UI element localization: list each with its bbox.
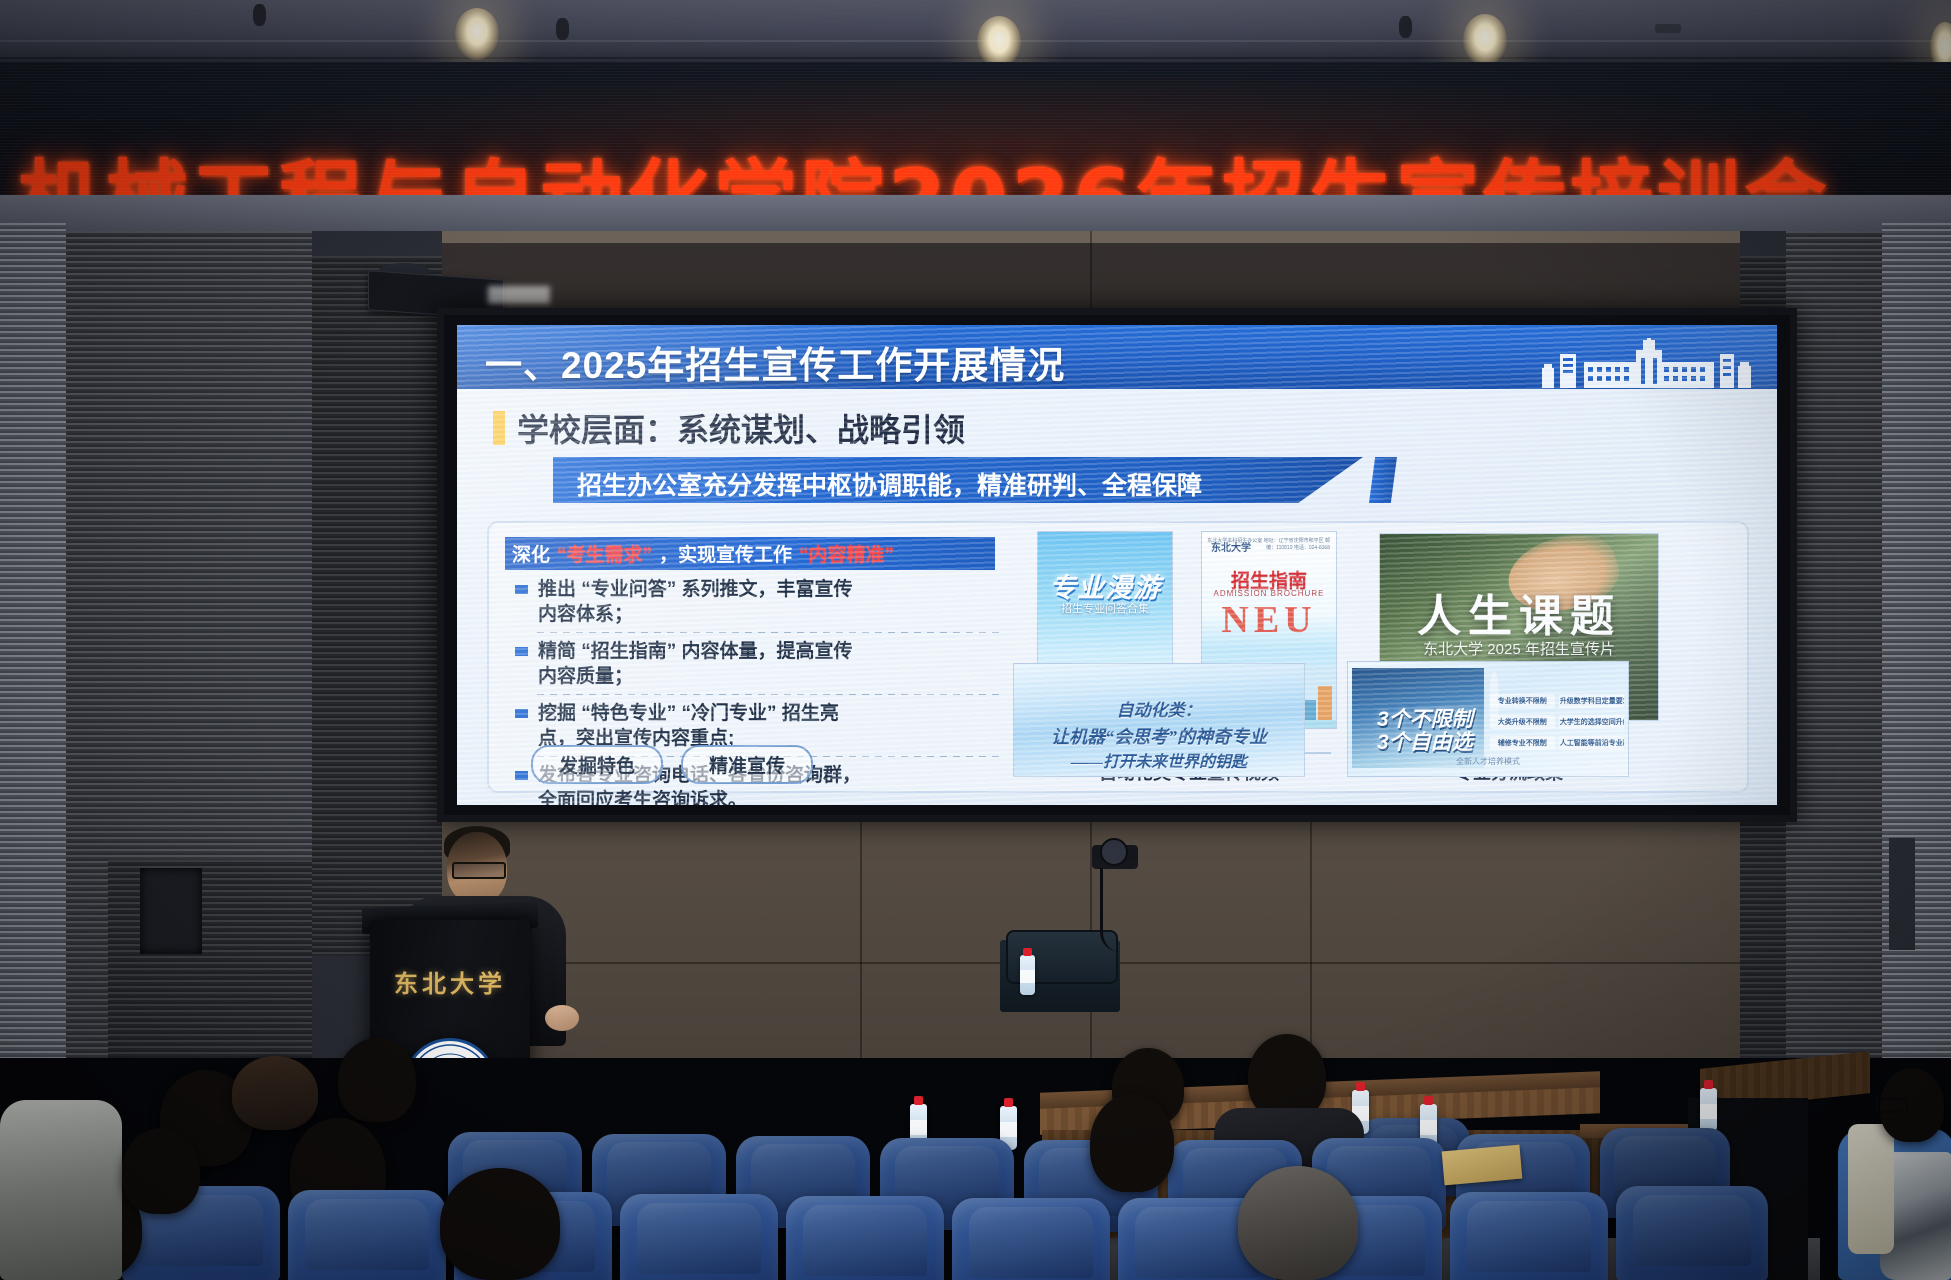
paper-document [1442,1145,1523,1186]
policy-key: 辅修专业不限制 [1490,736,1555,750]
ceiling-vent-icon [1655,24,1681,33]
wall-seam [1310,806,1312,1063]
banner-title-text: 机械工程与自动化学院2026年招生宣传培训会 [18,132,1948,195]
thumb-subtitle: ADMISSION BROCHURE [1202,589,1336,598]
audience-head [1238,1166,1358,1280]
slide-ribbon: 招生办公室充分发挥中枢协调职能，精准研判、全程保障 [553,457,1363,503]
policy-footnote: 全新人才培养模式 [1348,756,1628,767]
policy-headline: 3个不限制 3个自由选 [1352,708,1498,754]
wall-panel-left-b [312,256,442,956]
pill-tag: 精准宣传 [681,745,813,784]
handwritten-text: 自动化类： 让机器“会思考”的神奇专业 ——打开未来世界的钥匙 [1014,698,1304,776]
bullet-line-b: 全面回应考生咨询诉求。 [538,788,1005,805]
seat [620,1194,778,1280]
led-banner: 机械工程与自动化学院2026年招生宣传培训会 [0,62,1951,195]
projector-light-spill [488,286,550,304]
bullet-panel: 深化 “考生需求” ，实现宣传工作 “内容精准” 推出 “专业问答” 系列推文，… [505,537,1005,777]
policy-line-1: 3个不限制 [1352,708,1498,731]
auditorium-photo: 机械工程与自动化学院2026年招生宣传培训会 一、2025年招生宣传工作开展情况 [0,0,1951,1280]
seat [1616,1186,1768,1280]
bp-quote-1: “考生需求” [550,540,652,567]
wall-panel-right-a [1786,231,1882,1091]
projection-screen: 一、2025年招生宣传工作开展情况 [437,308,1797,822]
mic-cable [1100,868,1125,952]
banner-glow [0,62,1951,195]
presentation-slide: 一、2025年招生宣传工作开展情况 [457,325,1777,805]
policy-row: 大类升级不限制 大学生的选择空间升级 [1490,715,1624,729]
bullet-line-b: 内容质量； [538,664,1005,689]
bullet-item: 推出 “专业问答” 系列推文，丰富宣传 内容体系； [511,577,1005,627]
bullet-line-a: 推出 “专业问答” 系列推文，丰富宣传 [538,577,1005,602]
ceiling [0,0,1951,62]
bullet-item: 精简 “招生指南” 内容体量，提高宣传 内容质量； [511,639,1005,689]
audience-head [232,1056,318,1130]
pill-row: 发掘特色 精准宣传 [531,745,813,784]
audience-coat [0,1100,122,1280]
bullet-line-a: 挖掘 “特色专业” “冷门专业” 招生亮 [538,701,1005,726]
policy-line-2: 3个自由选 [1352,731,1498,754]
pill-tag: 发掘特色 [531,745,663,784]
ceiling-downlight [1463,14,1507,66]
seat [1450,1192,1608,1280]
standing-person-glasses-icon [1876,1098,1908,1113]
audience-head [122,1128,200,1214]
policy-row: 辅修专业不限制 人工智能等前沿专业群 [1490,736,1624,750]
hw-line-3: ——打开未来世界的钥匙 [1014,750,1304,776]
bullet-item: 挖掘 “特色专业” “冷门专业” 招生亮 点，突出宣传内容重点; [511,701,1005,751]
thumb-title: 人生课题 [1380,580,1658,644]
policy-value: 大学生的选择空间升级 [1559,715,1624,729]
policy-row: 专业转换不限制 升级数学科目定量要求 [1490,694,1624,708]
wall-recess-right [1889,838,1915,950]
hw-line-2: 让机器“会思考”的神奇专业 [1014,724,1304,750]
podium-university-name: 东北大学 [370,964,530,999]
policy-rows: 专业转换不限制 升级数学科目定量要求 大类升级不限制 大学生的选择空间升级 辅修… [1490,694,1624,757]
audience-head [338,1038,416,1122]
audience-head [440,1168,560,1280]
slide-title-bar: 一、2025年招生宣传工作开展情况 [457,325,1777,389]
wall-panel-left-far [0,223,66,1083]
bp-quote-2: “内容精准” [792,540,894,567]
bullet-line-a: 精简 “招生指南” 内容体量，提高宣传 [538,639,1005,664]
stage-dark-mask [442,243,1740,311]
thumb-meta: 东北大学本科招生办公室 地址：辽宁省沈阳市和平区 邮编：110819 电话：02… [1202,538,1330,552]
water-bottle [1700,1088,1717,1132]
thumb-wordmark: NEU [1202,598,1336,642]
seat [786,1196,944,1280]
ceiling-downlight [455,8,499,60]
standing-person-scarf [1848,1124,1894,1254]
wall-panel-left-return [108,860,312,1086]
wall-panel-right-b [1882,223,1951,1103]
slide-title: 一、2025年招生宣传工作开展情况 [485,335,1065,389]
water-bottle [1020,955,1035,995]
camera-lens-icon [1100,838,1128,866]
seat [952,1198,1110,1280]
bullet-panel-header: 深化 “考生需求” ，实现宣传工作 “内容精准” [505,537,995,570]
wall-recess-left [140,868,202,954]
wall-seam [860,806,862,1063]
heading-tick-icon [493,411,505,445]
policy-key: 大类升级不限制 [1490,715,1555,729]
ribbon-text: 招生办公室充分发挥中枢协调职能，精准研判、全程保障 [577,466,1202,502]
hw-line-1: 自动化类： [1014,698,1304,724]
slide-section-heading: 学校层面：系统谋划、战略引领 [493,405,965,451]
policy-value: 人工智能等前沿专业群 [1559,736,1624,750]
ceiling-speaker-icon [253,4,266,26]
thumb-image-fenliu: 3个不限制 3个自由选 专业转换不限制 升级数学科目定量要求 大类升级不限制 大… [1347,661,1629,777]
speaker-hand [545,1005,579,1031]
policy-key: 专业转换不限制 [1490,694,1555,708]
policy-value: 升级数学科目定量要求 [1559,694,1624,708]
bullet-separator [537,694,1005,695]
thumb-subtitle: 东北大学 2025 年招生宣传片 [1380,638,1658,659]
thumb-image-zidonghua: 自动化类： 让机器“会思考”的神奇专业 ——打开未来世界的钥匙 [1013,663,1305,777]
bullet-separator [537,632,1005,633]
ceiling-downlight [977,16,1021,68]
section-heading-text: 学校层面：系统谋划、战略引领 [517,405,965,451]
glasses-icon [452,862,506,879]
bp-part-2: ，实现宣传工作 [652,540,792,567]
seat [288,1190,446,1280]
ceiling-speaker-icon [556,18,569,40]
bp-part-1: 深化 [505,540,550,567]
bullet-line-b: 内容体系； [538,602,1005,627]
ceiling-speaker-icon [1399,16,1412,38]
thumb-subtitle: 招生专业问答合集 [1038,600,1172,616]
campus-skyline-icon [1540,338,1755,388]
ribbon-tail-icon [1369,457,1397,503]
audience-head [1090,1094,1174,1192]
wall-soffit [0,195,1951,231]
